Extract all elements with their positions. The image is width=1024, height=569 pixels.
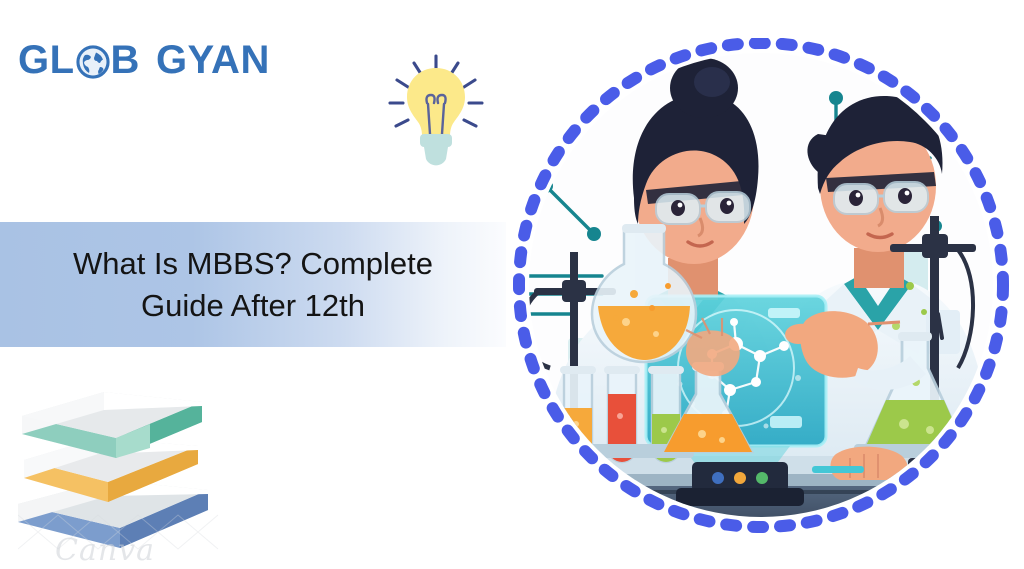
logo-text-b: B bbox=[111, 40, 140, 80]
female-eye-l bbox=[671, 200, 685, 216]
poster-canvas: GL B GYAN bbox=[0, 0, 1024, 569]
globe-icon bbox=[76, 45, 110, 79]
logo-text-gyan: GYAN bbox=[156, 40, 270, 80]
holo-chip-2 bbox=[768, 308, 800, 318]
male-eye-r bbox=[898, 188, 912, 204]
test-tube-orange bbox=[560, 366, 596, 462]
desk-strip-teal bbox=[812, 466, 864, 473]
male-neck bbox=[854, 248, 904, 288]
holo-chip-3 bbox=[770, 416, 802, 428]
female-eye-r bbox=[720, 198, 734, 214]
lightbulb-collar bbox=[420, 134, 452, 147]
indicator-orange bbox=[734, 472, 746, 484]
lightbulb-base bbox=[424, 147, 448, 165]
lightbulb-icon bbox=[383, 52, 491, 170]
holographic-projector bbox=[676, 462, 804, 506]
indicator-green bbox=[756, 472, 768, 484]
logo-text-gl: GL bbox=[18, 40, 75, 80]
title-banner: What Is MBBS? Complete Guide After 12th bbox=[0, 222, 506, 347]
indicator-blue bbox=[712, 472, 724, 484]
page-title-line-2: Guide After 12th bbox=[141, 285, 365, 326]
male-eye-l bbox=[849, 190, 863, 206]
page-title-line-1: What Is MBBS? Complete bbox=[73, 243, 433, 284]
two-scientists-lab-illustration bbox=[506, 38, 1016, 548]
brand-logo[interactable]: GL B GYAN bbox=[18, 40, 270, 80]
lightbulb-glass bbox=[407, 68, 465, 136]
watermark-pattern bbox=[18, 505, 233, 569]
